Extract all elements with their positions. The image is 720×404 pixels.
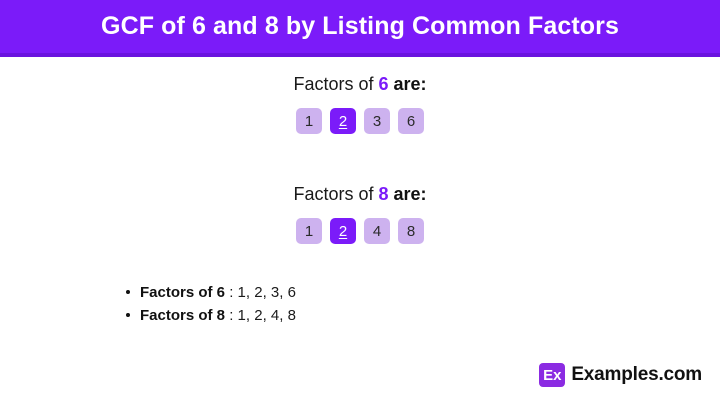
factor-caption-tail: are: <box>389 184 427 204</box>
header-underline <box>0 53 720 57</box>
factor-chip-row-6: 1 2 3 6 <box>0 108 720 134</box>
examples-logo[interactable]: Ex Examples.com <box>539 363 702 387</box>
factor-chip[interactable]: 1 <box>296 108 322 134</box>
factor-caption-tail: are: <box>389 74 427 94</box>
factor-chip-common[interactable]: 2 <box>330 218 356 244</box>
factor-chip-common[interactable]: 2 <box>330 108 356 134</box>
factor-caption-6: Factors of 6 are: <box>0 72 720 96</box>
list-item: Factors of 6 : 1, 2, 3, 6 <box>140 281 296 304</box>
factor-chip-row-8: 1 2 4 8 <box>0 218 720 244</box>
factor-chip[interactable]: 6 <box>398 108 424 134</box>
factor-summary-list: Factors of 6 : 1, 2, 3, 6 Factors of 8 :… <box>124 281 296 327</box>
factor-caption-lead: Factors of <box>293 74 378 94</box>
list-item-separator: : <box>225 284 238 301</box>
page-title: GCF of 6 and 8 by Listing Common Factors <box>0 0 720 53</box>
factor-chip[interactable]: 8 <box>398 218 424 244</box>
bullet-dot-icon <box>126 290 130 294</box>
factor-caption-number: 6 <box>378 74 388 94</box>
bullet-dot-icon <box>126 313 130 317</box>
factor-caption-number: 8 <box>378 184 388 204</box>
list-item-label: Factors of 6 <box>140 284 225 301</box>
factor-caption-lead: Factors of <box>293 184 378 204</box>
list-item-label: Factors of 8 <box>140 307 225 324</box>
examples-logo-mark-icon: Ex <box>539 363 565 387</box>
factor-chip[interactable]: 1 <box>296 218 322 244</box>
factor-group-6: Factors of 6 are: 1 2 3 6 <box>0 72 720 134</box>
factor-group-8: Factors of 8 are: 1 2 4 8 <box>0 182 720 244</box>
factor-chip[interactable]: 3 <box>364 108 390 134</box>
examples-logo-text: Examples.com <box>571 364 702 386</box>
list-item: Factors of 8 : 1, 2, 4, 8 <box>140 304 296 327</box>
factor-caption-8: Factors of 8 are: <box>0 182 720 206</box>
list-item-separator: : <box>225 307 238 324</box>
list-item-values: 1, 2, 3, 6 <box>238 284 296 301</box>
list-item-values: 1, 2, 4, 8 <box>238 307 296 324</box>
factor-chip[interactable]: 4 <box>364 218 390 244</box>
slide-canvas: GCF of 6 and 8 by Listing Common Factors… <box>0 0 720 404</box>
